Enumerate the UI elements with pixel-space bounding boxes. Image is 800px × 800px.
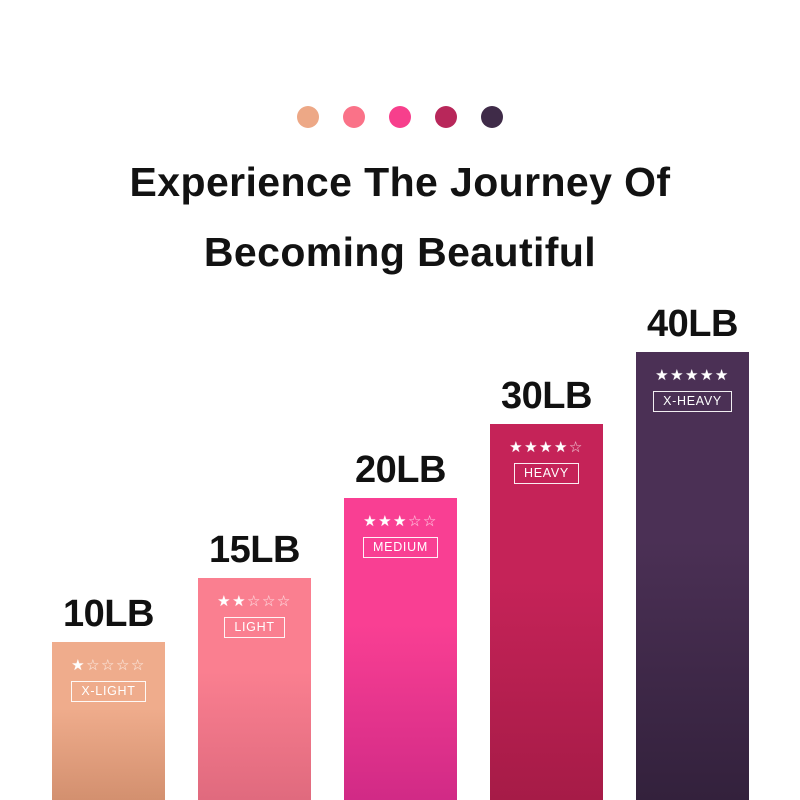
- star-filled-icon: ★: [670, 367, 685, 384]
- promo-banner: Experience The Journey Of Becoming Beaut…: [0, 0, 800, 800]
- bar-badge: ★★☆☆☆LIGHT: [198, 594, 311, 638]
- star-empty-icon: ☆: [101, 657, 116, 674]
- bar-badge: ★★★★☆HEAVY: [490, 440, 603, 484]
- star-rating: ★★☆☆☆: [198, 594, 311, 609]
- star-filled-icon: ★: [232, 593, 247, 610]
- bar-value-label: 10LB: [63, 593, 154, 636]
- bar-column[interactable]: ★☆☆☆☆X-LIGHT: [52, 642, 165, 800]
- bar-group[interactable]: 40LB★★★★★X-HEAVY: [636, 296, 749, 800]
- star-empty-icon: ☆: [131, 657, 146, 674]
- star-filled-icon: ★: [393, 513, 408, 530]
- star-filled-icon: ★: [655, 367, 670, 384]
- resistance-band-bar-chart: 10LB★☆☆☆☆X-LIGHT15LB★★☆☆☆LIGHT20LB★★★☆☆M…: [0, 0, 800, 800]
- bar-value-label: 20LB: [355, 449, 446, 492]
- bar-badge: ★★★☆☆MEDIUM: [344, 514, 457, 558]
- tier-label: MEDIUM: [363, 537, 438, 558]
- bar-group[interactable]: 20LB★★★☆☆MEDIUM: [344, 442, 457, 800]
- bar-badge: ★★★★★X-HEAVY: [636, 368, 749, 412]
- bar-column[interactable]: ★★★☆☆MEDIUM: [344, 498, 457, 800]
- tier-label: LIGHT: [224, 617, 284, 638]
- star-filled-icon: ★: [378, 513, 393, 530]
- star-empty-icon: ☆: [247, 593, 262, 610]
- bar-column[interactable]: ★★★★★X-HEAVY: [636, 352, 749, 800]
- star-rating: ★★★☆☆: [344, 514, 457, 529]
- tier-label: X-LIGHT: [71, 681, 145, 702]
- star-empty-icon: ☆: [277, 593, 292, 610]
- star-empty-icon: ☆: [569, 439, 584, 456]
- star-filled-icon: ★: [539, 439, 554, 456]
- star-rating: ★★★★☆: [490, 440, 603, 455]
- star-filled-icon: ★: [685, 367, 700, 384]
- star-rating: ★★★★★: [636, 368, 749, 383]
- star-rating: ★☆☆☆☆: [52, 658, 165, 673]
- star-filled-icon: ★: [71, 657, 86, 674]
- tier-label: HEAVY: [514, 463, 579, 484]
- star-filled-icon: ★: [524, 439, 539, 456]
- star-empty-icon: ☆: [423, 513, 438, 530]
- star-empty-icon: ☆: [408, 513, 423, 530]
- star-filled-icon: ★: [217, 593, 232, 610]
- star-empty-icon: ☆: [262, 593, 277, 610]
- star-filled-icon: ★: [509, 439, 524, 456]
- star-filled-icon: ★: [363, 513, 378, 530]
- star-empty-icon: ☆: [116, 657, 131, 674]
- star-empty-icon: ☆: [86, 657, 101, 674]
- bar-group[interactable]: 15LB★★☆☆☆LIGHT: [198, 522, 311, 800]
- bar-column[interactable]: ★★☆☆☆LIGHT: [198, 578, 311, 800]
- bar-value-label: 40LB: [647, 303, 738, 346]
- bar-column[interactable]: ★★★★☆HEAVY: [490, 424, 603, 800]
- star-filled-icon: ★: [554, 439, 569, 456]
- tier-label: X-HEAVY: [653, 391, 732, 412]
- bar-group[interactable]: 10LB★☆☆☆☆X-LIGHT: [52, 586, 165, 800]
- star-filled-icon: ★: [700, 367, 715, 384]
- bar-badge: ★☆☆☆☆X-LIGHT: [52, 658, 165, 702]
- bar-value-label: 15LB: [209, 529, 300, 572]
- bar-group[interactable]: 30LB★★★★☆HEAVY: [490, 368, 603, 800]
- bar-value-label: 30LB: [501, 375, 592, 418]
- star-filled-icon: ★: [715, 367, 730, 384]
